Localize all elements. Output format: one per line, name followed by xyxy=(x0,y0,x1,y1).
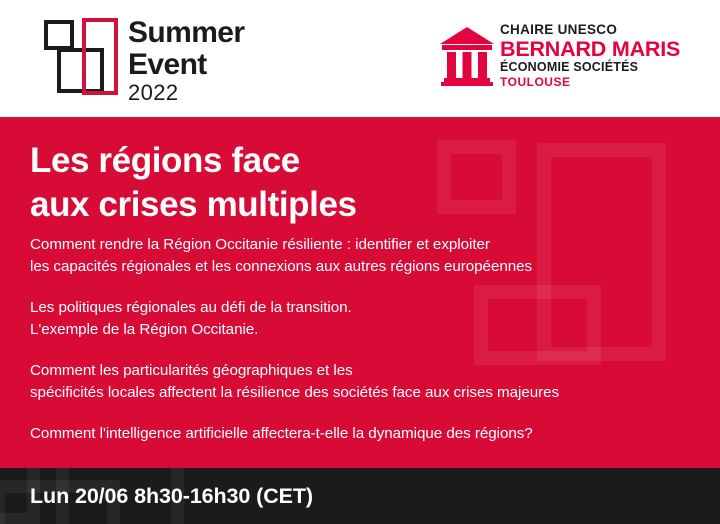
topic-item: Comment rendre la Région Occitanie résil… xyxy=(30,234,695,277)
title-line-1: Les régions face xyxy=(30,139,500,183)
logo-word-event: Event xyxy=(128,50,268,80)
topic-list: Comment rendre la Région Occitanie résil… xyxy=(30,234,695,445)
unesco-chair-logo: CHAIRE UNESCO BERNARD MARIS ÉCONOMIE SOC… xyxy=(438,22,688,92)
event-schedule: Lun 20/06 8h30-16h30 (CET) xyxy=(30,482,313,510)
unesco-line-bernard-maris: BERNARD MARIS xyxy=(500,38,690,60)
temple-icon xyxy=(438,24,496,88)
event-poster: Summer Event 2022 CHAIRE UNESCO BE xyxy=(0,0,720,524)
topic-line: Comment les particularités géographiques… xyxy=(30,360,695,382)
topic-item: Comment les particularités géographiques… xyxy=(30,360,695,403)
footer-band: Lun 20/06 8h30-16h30 (CET) xyxy=(0,468,720,524)
logo-small-square-icon xyxy=(44,20,74,50)
logo-word-summer: Summer xyxy=(128,18,268,48)
summer-event-logo: Summer Event 2022 xyxy=(42,16,257,98)
topic-line: Comment rendre la Région Occitanie résil… xyxy=(30,234,695,256)
header-band: Summer Event 2022 CHAIRE UNESCO BE xyxy=(0,0,720,117)
logo-year: 2022 xyxy=(128,81,268,105)
topic-line: L'exemple de la Région Occitanie. xyxy=(30,319,695,341)
summer-event-logo-marks xyxy=(42,16,118,96)
logo-red-rectangle-icon xyxy=(82,18,118,95)
summer-event-logo-text: Summer Event 2022 xyxy=(128,16,268,105)
topic-line: spécificités locales affectent la résili… xyxy=(30,382,695,404)
unesco-line-chaire: CHAIRE UNESCO xyxy=(500,22,690,38)
unesco-line-economie-societes: ÉCONOMIE SOCIÉTÉS xyxy=(500,60,690,75)
topic-line: Les politiques régionales au défi de la … xyxy=(30,297,695,319)
topic-line: les capacités régionales et les connexio… xyxy=(30,256,695,278)
unesco-chair-logo-text: CHAIRE UNESCO BERNARD MARIS ÉCONOMIE SOC… xyxy=(500,22,690,89)
topic-line: Comment l'intelligence artificielle affe… xyxy=(30,423,695,445)
page-title: Les régions face aux crises multiples xyxy=(30,139,500,227)
main-red-panel: Les régions face aux crises multiples Co… xyxy=(0,117,720,468)
title-line-2: aux crises multiples xyxy=(30,183,500,227)
topic-item: Les politiques régionales au défi de la … xyxy=(30,297,695,340)
topic-item: Comment l'intelligence artificielle affe… xyxy=(30,423,695,445)
unesco-line-toulouse: TOULOUSE xyxy=(500,75,690,89)
